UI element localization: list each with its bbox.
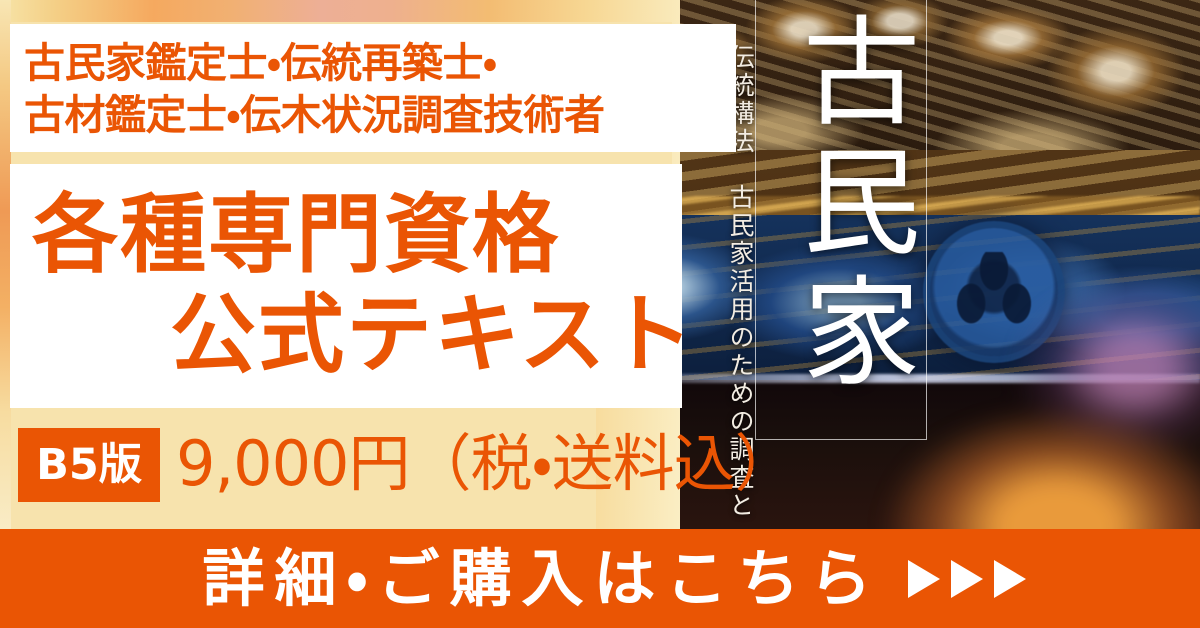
cta-bar[interactable]: 詳細・ご購入はこちら <box>0 529 1200 628</box>
headline-line-2: 公式テキスト <box>170 292 695 378</box>
size-badge: B5版 <box>18 428 160 502</box>
headline-card: 各種専門資格 公式テキスト <box>10 164 682 408</box>
cover-vertical-title: 古民家 <box>763 10 919 400</box>
arrow-right-icon-2 <box>951 560 983 598</box>
qualifications-line-2: 古材鑑定士・伝木状況調査技術者 <box>24 90 730 142</box>
cta-label[interactable]: 詳細・ご購入はこちら <box>174 548 881 610</box>
cta-arrows <box>908 560 1026 598</box>
arrow-right-icon-3 <box>994 560 1026 598</box>
arrow-right-icon-1 <box>908 560 940 598</box>
size-badge-label: B5版 <box>36 444 142 487</box>
qualifications-line-1: 古民家鑑定士・伝統再築士・ <box>24 38 730 90</box>
headline-line-1: 各種専門資格 <box>32 192 560 278</box>
promo-banner: 古民家 伝統構法 古民家活用のための調査と再生の 古民家鑑定士・伝統再築士・ 古… <box>0 0 1200 628</box>
qualifications-heading: 古民家鑑定士・伝統再築士・ 古材鑑定士・伝木状況調査技術者 <box>24 38 730 141</box>
qualifications-card: 古民家鑑定士・伝統再築士・ 古材鑑定士・伝木状況調査技術者 <box>10 24 736 152</box>
price-text: 9,000円（税・送料込） <box>176 431 796 498</box>
